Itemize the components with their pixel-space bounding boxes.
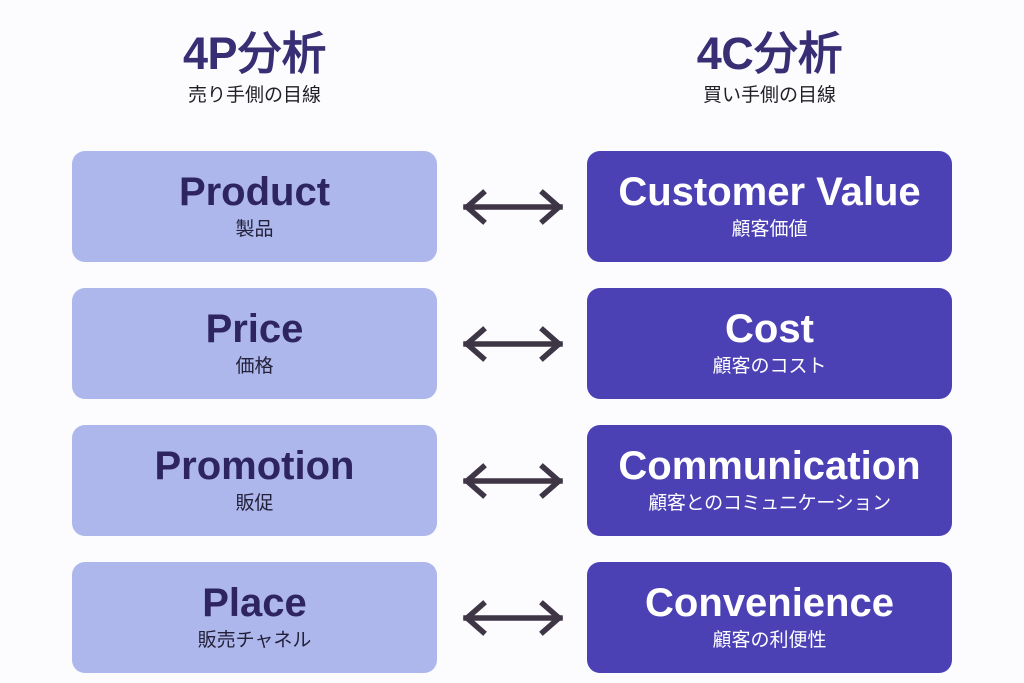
box-subtitle: 顧客価値 (731, 220, 807, 241)
box-subtitle: 販売チャネル (198, 631, 312, 652)
box-subtitle: 製品 (235, 220, 273, 241)
box-title: Product (179, 172, 330, 212)
double-arrow-icon (456, 324, 570, 364)
box-title: Place (202, 583, 307, 623)
box-4p-place: Place 販売チャネル (72, 562, 437, 673)
box-4p-product: Product 製品 (72, 151, 437, 262)
4p-4c-comparison-diagram: 4P分析 売り手側の目線 4C分析 買い手側の目線 Product 製品 (0, 0, 1024, 683)
double-arrow-icon (456, 461, 570, 501)
box-subtitle: 価格 (235, 357, 273, 378)
box-4c-customer-value: Customer Value 顧客価値 (587, 151, 952, 262)
box-4p-price: Price 価格 (72, 288, 437, 399)
box-subtitle: 顧客のコスト (712, 357, 826, 378)
box-subtitle: 顧客の利便性 (712, 631, 826, 652)
column-subtitle-4c: 買い手側の目線 (587, 85, 952, 108)
column-title-4p: 4P分析 (72, 30, 437, 78)
box-title: Price (206, 309, 304, 349)
box-title: Cost (725, 309, 814, 349)
box-title: Promotion (155, 446, 355, 486)
comparison-row: Place 販売チャネル Convenience 顧客の利便性 (0, 562, 1024, 673)
box-subtitle: 顧客とのコミュニケーション (648, 494, 891, 515)
column-title-4c: 4C分析 (587, 30, 952, 78)
double-arrow-icon (456, 598, 570, 638)
comparison-rows: Product 製品 Customer Value 顧客価値 (0, 151, 1024, 673)
comparison-row: Price 価格 Cost 顧客のコスト (0, 288, 1024, 399)
column-subtitle-4p: 売り手側の目線 (72, 85, 437, 108)
box-4p-promotion: Promotion 販促 (72, 425, 437, 536)
comparison-row: Promotion 販促 Communication 顧客とのコミュニケーション (0, 425, 1024, 536)
box-4c-communication: Communication 顧客とのコミュニケーション (587, 425, 952, 536)
box-title: Communication (618, 446, 920, 486)
box-4c-convenience: Convenience 顧客の利便性 (587, 562, 952, 673)
box-title: Customer Value (618, 172, 920, 212)
comparison-row: Product 製品 Customer Value 顧客価値 (0, 151, 1024, 262)
column-heading-4p: 4P分析 売り手側の目線 (72, 30, 437, 107)
box-title: Convenience (645, 583, 894, 623)
double-arrow-icon (456, 187, 570, 227)
box-subtitle: 販促 (235, 494, 273, 515)
column-headings: 4P分析 売り手側の目線 4C分析 買い手側の目線 (0, 0, 1024, 151)
box-4c-cost: Cost 顧客のコスト (587, 288, 952, 399)
column-heading-4c: 4C分析 買い手側の目線 (587, 30, 952, 107)
